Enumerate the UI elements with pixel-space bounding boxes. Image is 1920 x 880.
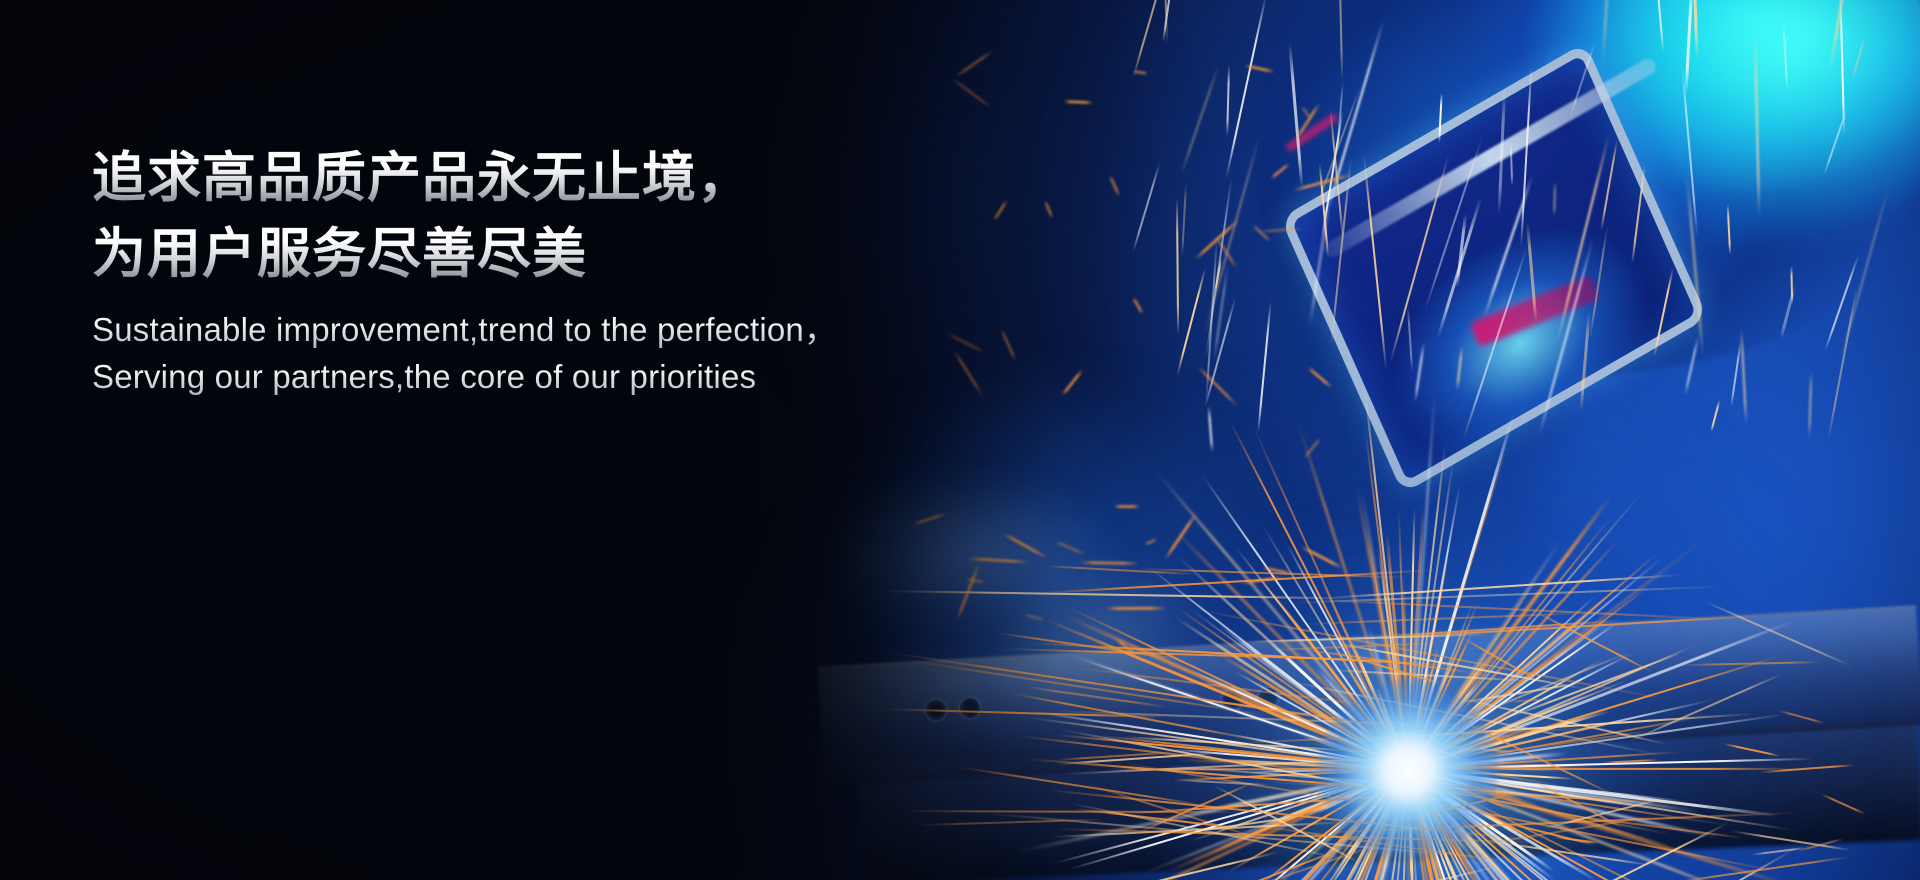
spark xyxy=(1731,341,1742,406)
spark xyxy=(1498,90,1507,215)
spark xyxy=(1055,540,1087,556)
spark xyxy=(1180,66,1219,176)
spark xyxy=(1796,838,1843,852)
spark xyxy=(1556,133,1610,343)
spark xyxy=(1780,287,1796,339)
spark xyxy=(1308,192,1331,326)
spark xyxy=(1754,32,1760,218)
spark xyxy=(1176,268,1206,376)
spark xyxy=(1144,538,1157,546)
spark xyxy=(1338,0,1343,79)
hero-subtitle: Sustainable improvement,trend to the per… xyxy=(92,306,972,400)
spark xyxy=(993,199,1008,221)
spark xyxy=(1270,163,1290,180)
spark xyxy=(1691,0,1699,59)
spark xyxy=(913,512,947,526)
welding-arc-flash xyxy=(1318,680,1498,860)
spark xyxy=(1061,369,1084,397)
spark xyxy=(1653,268,1673,357)
headline-line-1: 追求高品质产品永无止境， xyxy=(92,140,972,216)
spark xyxy=(1194,218,1240,261)
spark xyxy=(1628,673,1782,742)
spark xyxy=(1326,21,1384,213)
spark xyxy=(1821,793,1866,815)
spark xyxy=(1181,184,1187,257)
spark xyxy=(1580,311,1591,411)
spark xyxy=(1462,247,1527,440)
spark xyxy=(1631,163,1645,264)
spark xyxy=(1526,223,1538,323)
spark xyxy=(1163,512,1197,560)
spark xyxy=(1225,0,1267,179)
spark xyxy=(1132,163,1160,253)
hero-copy: 追求高品质产品永无止境， 为用户服务尽善尽美 Sustainable impro… xyxy=(92,140,972,400)
spark xyxy=(1686,176,1705,358)
subtitle-line-1: Sustainable improvement,trend to the per… xyxy=(92,306,972,353)
spark xyxy=(1851,36,1865,80)
spark xyxy=(1685,336,1700,395)
spark xyxy=(1407,307,1413,371)
spark xyxy=(1108,174,1120,197)
spark xyxy=(1439,93,1443,143)
spark xyxy=(1208,406,1213,452)
spark xyxy=(1260,227,1302,233)
spark xyxy=(951,77,992,108)
spark xyxy=(1132,297,1144,314)
spark xyxy=(1197,366,1239,408)
spark xyxy=(1060,851,1279,880)
spark xyxy=(1520,67,1532,246)
spark xyxy=(1723,743,1780,757)
hero-banner: 追求高品质产品永无止境， 为用户服务尽善尽美 Sustainable impro… xyxy=(0,0,1920,880)
spark xyxy=(882,590,1352,600)
spark xyxy=(1307,366,1332,388)
spark xyxy=(1727,204,1731,255)
spark xyxy=(965,578,984,584)
spark xyxy=(1554,182,1557,216)
spark xyxy=(1064,100,1093,104)
spark xyxy=(1363,155,1387,370)
spark xyxy=(1569,41,1596,117)
spark xyxy=(1777,709,1824,724)
spark xyxy=(1114,505,1140,508)
spark xyxy=(1176,198,1179,335)
spark xyxy=(1436,197,1482,338)
spark xyxy=(955,50,992,77)
spark xyxy=(1711,400,1721,432)
spark xyxy=(1456,345,1463,389)
spark xyxy=(1414,342,1424,402)
spark-field xyxy=(0,0,1920,880)
spark xyxy=(919,819,1105,827)
spark xyxy=(1105,607,1166,610)
spark xyxy=(1654,0,1664,52)
welding-photo xyxy=(0,0,1920,880)
spark xyxy=(1000,328,1018,362)
spark xyxy=(1684,0,1693,94)
spark xyxy=(1023,613,1045,622)
spark xyxy=(1288,43,1303,189)
spark xyxy=(1827,286,1858,442)
spark xyxy=(1226,65,1230,136)
subtitle-line-2: Serving our partners,the core of our pri… xyxy=(92,353,972,400)
spark xyxy=(1257,301,1271,433)
spark xyxy=(1252,224,1272,242)
spark xyxy=(1741,328,1748,424)
spark xyxy=(1044,200,1054,218)
spark xyxy=(1509,142,1512,186)
spark xyxy=(1080,561,1139,565)
spark xyxy=(1601,0,1614,65)
headline-line-2: 为用户服务尽善尽美 xyxy=(92,216,972,292)
spark xyxy=(1808,371,1812,438)
spark xyxy=(1002,532,1047,559)
spark xyxy=(1783,25,1788,91)
spark xyxy=(1295,103,1321,140)
